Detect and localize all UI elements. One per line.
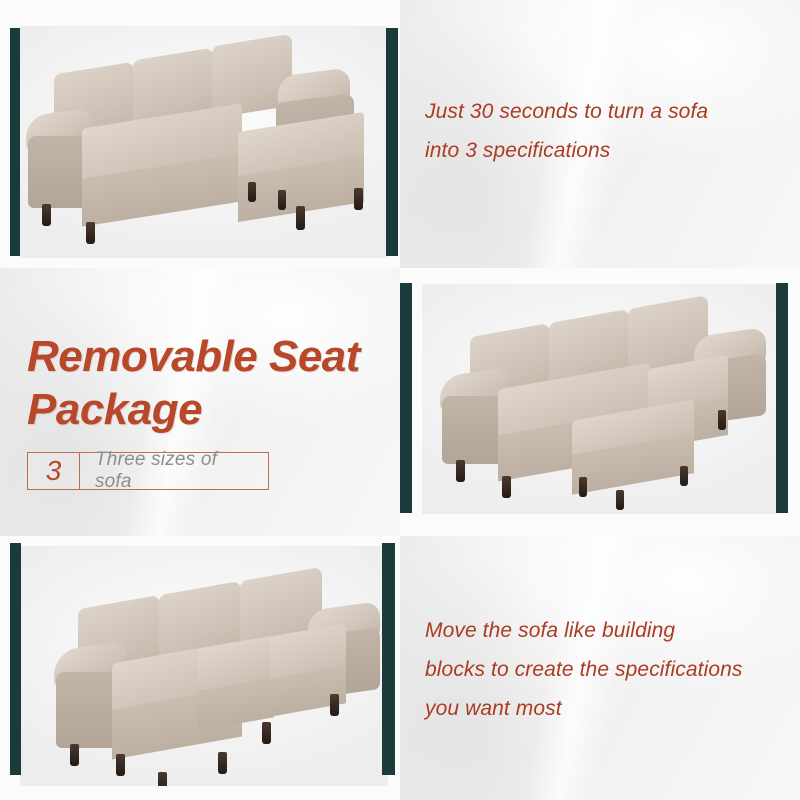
accent-bar-left — [10, 543, 21, 775]
sofa-side-panel-left — [442, 396, 502, 464]
caption-bottom-right-line1: Move the sofa like building — [425, 611, 797, 651]
panel-bottom-left-photo — [0, 536, 400, 800]
status-badge: 3 Three sizes of sofa — [27, 452, 269, 490]
sofa-photo-right-chaise — [20, 26, 388, 258]
accent-bar-left — [10, 28, 20, 256]
caption-top-right-line2: into 3 specifications — [425, 131, 785, 171]
ottoman-leg — [579, 477, 587, 497]
sofa-leg — [502, 476, 511, 498]
ottoman-leg — [616, 490, 624, 510]
sofa-photo-left-chaise — [20, 546, 388, 786]
accent-bar-right — [386, 28, 398, 256]
panel-top-right-caption: Just 30 seconds to turn a sofa into 3 sp… — [400, 0, 800, 268]
sofa-illustration — [20, 546, 388, 786]
sofa-side-panel-left — [28, 136, 86, 208]
panel-top-left-photo — [0, 0, 400, 268]
sofa-leg — [248, 182, 256, 202]
caption-bottom-right-line3: you want most — [425, 689, 797, 729]
panel-bottom-right-caption: Move the sofa like building blocks to cr… — [400, 536, 800, 800]
sofa-illustration — [422, 284, 778, 514]
caption-bottom-right-line2: blocks to create the specifications — [425, 650, 797, 690]
accent-bar-right — [776, 283, 788, 513]
page-title: Removable Seat Package — [27, 330, 397, 436]
sofa-leg — [158, 772, 167, 786]
sofa-leg — [330, 694, 339, 716]
badge-label: Three sizes of sofa — [80, 453, 268, 489]
caption-top-right-line1: Just 30 seconds to turn a sofa — [425, 92, 785, 132]
sofa-leg — [70, 744, 79, 766]
sofa-leg — [86, 222, 95, 244]
accent-bar-left — [400, 283, 412, 513]
sofa-leg — [354, 188, 363, 210]
panel-middle-left-text: Removable Seat Package 3 Three sizes of … — [0, 268, 400, 536]
sofa-side-panel-left — [56, 672, 118, 748]
sofa-photo-with-ottoman — [422, 284, 778, 514]
panel-middle-right-photo — [400, 268, 800, 536]
badge-count: 3 — [28, 453, 80, 489]
sofa-leg — [42, 204, 51, 226]
sofa-leg — [116, 754, 125, 776]
sofa-leg — [456, 460, 465, 482]
sofa-illustration — [20, 26, 388, 258]
sofa-leg — [218, 752, 227, 774]
sofa-leg — [718, 410, 726, 430]
sofa-leg — [262, 722, 271, 744]
accent-bar-right — [382, 543, 395, 775]
product-infographic: Just 30 seconds to turn a sofa into 3 sp… — [0, 0, 800, 800]
sofa-leg — [278, 190, 286, 210]
ottoman-leg — [680, 466, 688, 486]
sofa-leg — [296, 206, 305, 230]
